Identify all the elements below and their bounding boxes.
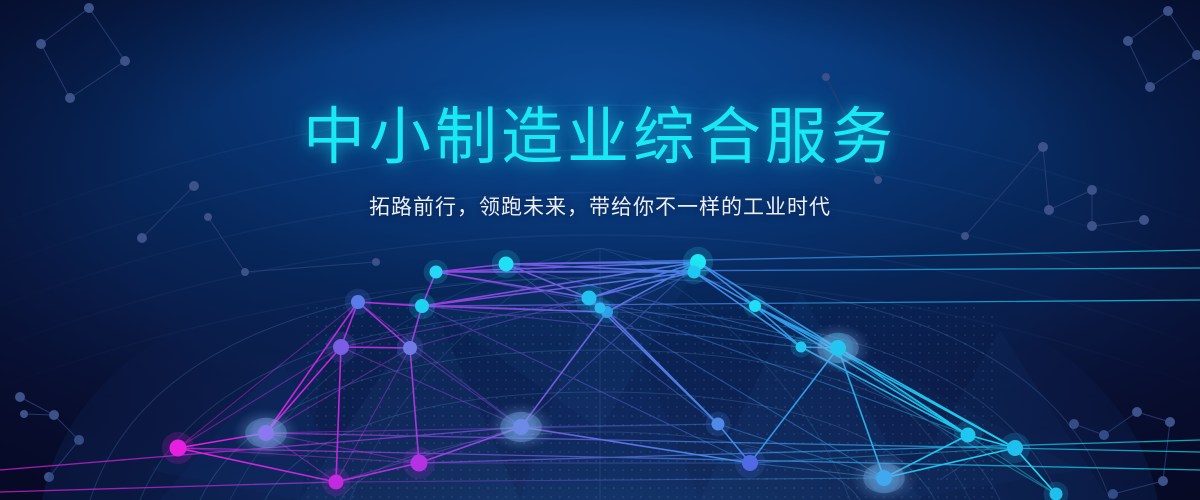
network-node bbox=[796, 342, 807, 353]
hero-banner: 中小制造业综合服务 拓路前行，领跑未来，带给你不一样的工业时代 bbox=[0, 0, 1200, 500]
network-node bbox=[749, 300, 761, 312]
dome-body bbox=[40, 248, 1160, 500]
network-node bbox=[351, 295, 365, 309]
network-node bbox=[595, 303, 606, 314]
network-node bbox=[415, 299, 429, 313]
network-node bbox=[961, 428, 976, 443]
network-node bbox=[830, 340, 846, 356]
network-node bbox=[170, 440, 187, 457]
network-dome-graphic bbox=[0, 0, 1200, 500]
network-node bbox=[876, 470, 892, 486]
network-node bbox=[499, 257, 514, 272]
network-node bbox=[1050, 488, 1063, 500]
network-node bbox=[411, 455, 428, 472]
network-node bbox=[742, 455, 758, 471]
network-node bbox=[430, 266, 443, 279]
network-node bbox=[712, 418, 725, 431]
network-node bbox=[403, 341, 417, 355]
network-node bbox=[329, 475, 344, 490]
network-node bbox=[333, 339, 349, 355]
network-node bbox=[688, 266, 701, 279]
network-node bbox=[258, 425, 274, 441]
network-node bbox=[1007, 440, 1023, 456]
network-node bbox=[513, 419, 529, 435]
